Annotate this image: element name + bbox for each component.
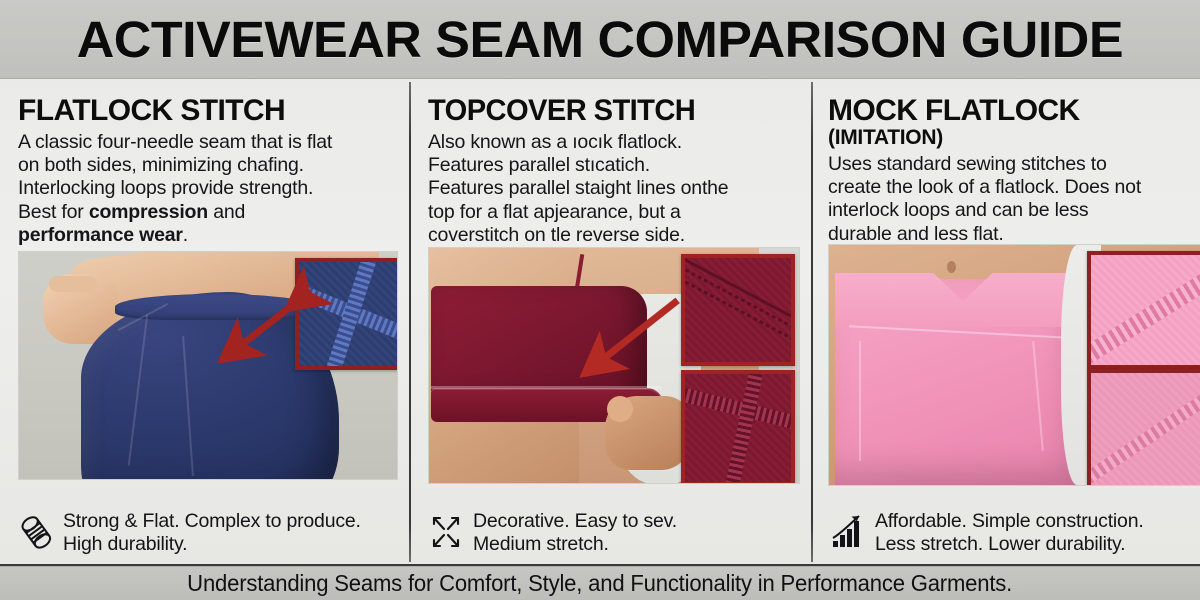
column-topcover-stitch: TOPCOVER STITCH Also known as a ıocık fl…	[410, 79, 812, 565]
note-line: Affordable. Simple construction.	[875, 510, 1144, 534]
pink-leggings-scene	[829, 245, 1200, 485]
column-3-note: Affordable. Simple construction. Less st…	[830, 510, 1190, 557]
column-3-body: Uses standard sewing stitches to create …	[828, 153, 1200, 247]
text-suffix: .	[183, 224, 188, 246]
note-line: Less stretch. Lower durability.	[875, 533, 1144, 557]
column-1-body-line: A classic four-needle seam that is flat	[18, 131, 398, 154]
column-divider-1	[409, 82, 411, 562]
column-3-photo	[828, 244, 1200, 486]
four-way-stretch-arrows-icon	[428, 510, 464, 554]
growth-bar-chart-icon	[830, 510, 866, 554]
column-3-body-line: create the look of a flatlock. Does not	[828, 176, 1200, 199]
thread-spool-icon	[18, 510, 54, 554]
note-line: Strong & Flat. Complex to produce.	[63, 510, 361, 534]
column-3-stitch-inset-top	[1087, 251, 1200, 369]
column-2-body-line: Also known as a ıocık flatlock.	[428, 131, 800, 154]
model-fingers	[49, 276, 97, 292]
note-line: Medium stretch.	[473, 533, 677, 557]
column-3-note-text: Affordable. Simple construction. Less st…	[875, 510, 1144, 557]
column-1-body: A classic four-needle seam that is flat …	[18, 131, 398, 248]
column-2-body-line: top for a flat apjearance, but a	[428, 201, 800, 224]
hem-topstitch-line	[431, 386, 661, 389]
bold-compression: compression	[89, 201, 208, 223]
note-line: Decorative. Easy to sev.	[473, 510, 677, 534]
column-3-body-line: interlock loops and can be less	[828, 199, 1200, 222]
column-2-body-line: Features parallel stıcatich.	[428, 154, 800, 177]
column-2-stitch-inset-bottom	[681, 370, 795, 484]
columns-container: FLATLOCK STITCH A classic four-needle se…	[0, 79, 1200, 565]
column-3-stitch-inset-bottom	[1087, 369, 1200, 486]
column-1-title: FLATLOCK STITCH	[18, 79, 398, 127]
column-2-photo	[428, 247, 800, 484]
garment-seam-line	[859, 341, 861, 461]
column-1-body-line: on both sides, minimizing chafing.	[18, 154, 398, 177]
column-2-body-line: Features parallel staight lines onthe	[428, 177, 800, 200]
column-3-body-line: Uses standard sewing stitches to	[828, 153, 1200, 176]
infographic-poster: ACTIVEWEAR SEAM COMPARISON GUIDE FLATLOC…	[0, 0, 1200, 600]
note-line: High durability.	[63, 533, 361, 557]
column-mock-flatlock: MOCK FLATLOCK (IMITATION) Uses standard …	[812, 79, 1200, 565]
column-divider-2	[811, 82, 813, 562]
navy-leggings-scene	[19, 252, 397, 479]
model-navel	[947, 261, 956, 273]
column-2-note: Decorative. Easy to sev. Medium stretch.	[428, 510, 802, 557]
column-2-note-text: Decorative. Easy to sev. Medium stretch.	[473, 510, 677, 557]
column-2-body: Also known as a ıocık flatlock. Features…	[428, 131, 800, 248]
column-1-note-text: Strong & Flat. Complex to produce. High …	[63, 510, 361, 557]
page-title: ACTIVEWEAR SEAM COMPARISON GUIDE	[77, 14, 1123, 65]
model-thumb	[607, 396, 633, 422]
text-prefix: Best for	[18, 201, 89, 223]
burgundy-bra-scene	[429, 248, 799, 483]
bold-performance-wear: performance wear	[18, 224, 183, 246]
column-3-subtitle: (IMITATION)	[828, 127, 1200, 149]
column-flatlock-stitch: FLATLOCK STITCH A classic four-needle se…	[0, 79, 410, 565]
column-1-body-line-rich: Best for compression and	[18, 201, 398, 224]
column-2-title: TOPCOVER STITCH	[428, 79, 789, 127]
column-2-stitch-inset-top	[681, 254, 795, 366]
column-1-note: Strong & Flat. Complex to produce. High …	[18, 510, 400, 557]
column-1-stitch-inset	[295, 258, 398, 370]
column-3-title: MOCK FLATLOCK	[828, 79, 1200, 127]
column-1-photo	[18, 251, 398, 480]
text-mid: and	[208, 201, 245, 223]
footer-caption: Understanding Seams for Comfort, Style, …	[188, 570, 1013, 597]
footer-band: Understanding Seams for Comfort, Style, …	[0, 566, 1200, 600]
column-1-body-line-rich2: performance wear.	[18, 224, 398, 247]
column-2-body-line: coverstitch on tle reverse side.	[428, 224, 800, 247]
column-1-body-line: Interlocking loops provide strength.	[18, 177, 398, 200]
header-band: ACTIVEWEAR SEAM COMPARISON GUIDE	[0, 0, 1200, 79]
column-3-body-line: durable and less flat.	[828, 223, 1200, 246]
